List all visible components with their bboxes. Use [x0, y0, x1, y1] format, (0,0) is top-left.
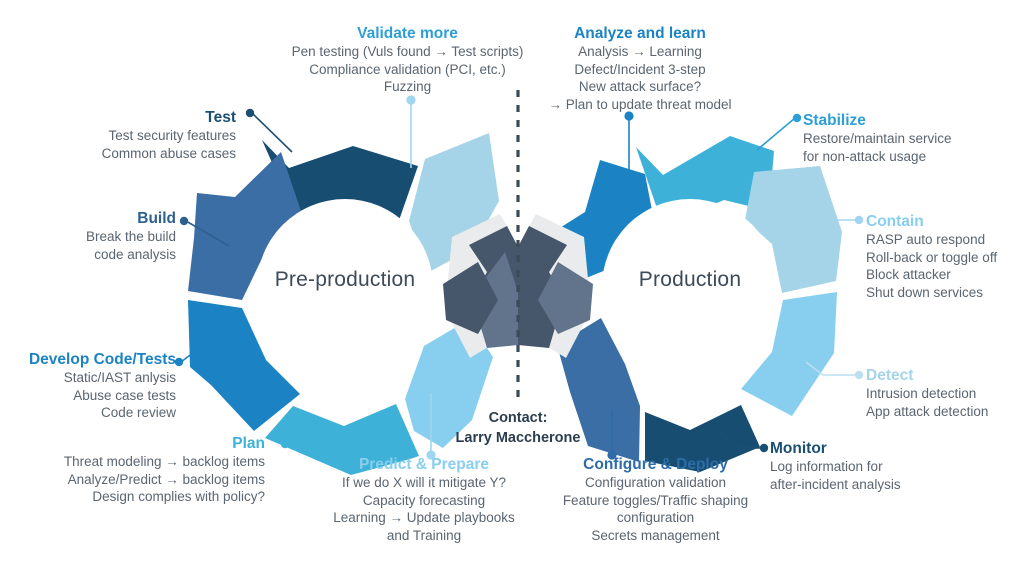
stage-detail-configure-deploy-2: configuration	[548, 509, 763, 527]
stage-detail-plan-1: Analyze/Predict → backlog items	[10, 471, 265, 489]
stage-title-contain: Contain	[866, 212, 1024, 231]
leader-dot-build	[180, 217, 188, 225]
leader-dot-contain	[855, 216, 863, 224]
stage-title-test: Test	[40, 108, 236, 127]
stage-detail-stabilize-1: for non-attack usage	[803, 148, 1003, 166]
stage-label-build[interactable]: BuildBreak the buildcode analysis	[40, 209, 176, 263]
stage-title-analyze-and-learn: Analyze and learn	[535, 24, 745, 43]
stage-detail-plan-0: Threat modeling → backlog items	[10, 453, 265, 471]
stage-detail-validate-more-2: Fuzzing	[285, 78, 530, 96]
stage-label-monitor[interactable]: MonitorLog information forafter-incident…	[770, 439, 960, 493]
stage-detail-analyze-and-learn-1: Defect/Incident 3-step	[535, 61, 745, 79]
stage-label-plan[interactable]: PlanThreat modeling → backlog itemsAnaly…	[10, 434, 265, 506]
stage-detail-contain-0: RASP auto respond	[866, 231, 1024, 249]
stage-detail-analyze-and-learn-2: New attack surface?	[535, 78, 745, 96]
leader-dot-plan	[281, 440, 289, 448]
contact-name: Larry Maccherone	[398, 428, 638, 448]
stage-detail-validate-more-0: Pen testing (Vuls found → Test scripts)	[285, 43, 530, 61]
stage-detail-build-0: Break the build	[40, 228, 176, 246]
stage-label-detect[interactable]: DetectIntrusion detectionApp attack dete…	[866, 366, 1024, 420]
stage-title-predict-prepare: Predict & Prepare	[311, 455, 537, 474]
stage-detail-predict-prepare-2: Learning → Update playbooks	[311, 509, 537, 527]
stage-detail-contain-3: Shut down services	[866, 284, 1024, 302]
stage-detail-test-0: Test security features	[40, 127, 236, 145]
stage-detail-detect-0: Intrusion detection	[866, 385, 1024, 403]
stage-label-contain[interactable]: ContainRASP auto respondRoll-back or tog…	[866, 212, 1024, 301]
stage-detail-analyze-and-learn-3: → Plan to update threat model	[535, 96, 745, 114]
stage-label-test[interactable]: TestTest security featuresCommon abuse c…	[40, 108, 236, 162]
ring-label-production: Production	[639, 268, 741, 292]
leader-dot-develop	[175, 358, 183, 366]
stage-detail-contain-1: Roll-back or toggle off	[866, 249, 1024, 267]
stage-title-configure-deploy: Configure & Deploy	[548, 455, 763, 474]
stage-label-stabilize[interactable]: StabilizeRestore/maintain servicefor non…	[803, 111, 1003, 165]
leader-dot-test	[246, 109, 254, 117]
ring-label-pre-production: Pre-production	[275, 268, 416, 292]
stage-detail-build-1: code analysis	[40, 246, 176, 264]
stage-detail-predict-prepare-0: If we do X will it mitigate Y?	[311, 474, 537, 492]
stage-title-plan: Plan	[10, 434, 265, 453]
stage-detail-detect-1: App attack detection	[866, 403, 1024, 421]
stage-title-build: Build	[40, 209, 176, 228]
stage-detail-configure-deploy-0: Configuration validation	[548, 474, 763, 492]
stage-title-monitor: Monitor	[770, 439, 960, 458]
leader-dot-detect	[855, 371, 863, 379]
stage-detail-predict-prepare-3: and Training	[311, 527, 537, 545]
stage-detail-configure-deploy-1: Feature toggles/Traffic shaping	[548, 492, 763, 510]
stage-detail-stabilize-0: Restore/maintain service	[803, 130, 1003, 148]
contact-block: Contact: Larry Maccherone	[398, 408, 638, 448]
stage-detail-contain-2: Block attacker	[866, 266, 1024, 284]
stage-label-analyze-and-learn[interactable]: Analyze and learnAnalysis → LearningDefe…	[535, 24, 745, 113]
stage-detail-monitor-1: after-incident analysis	[770, 476, 960, 494]
stage-label-configure-deploy[interactable]: Configure & DeployConfiguration validati…	[548, 455, 763, 544]
stage-title-detect: Detect	[866, 366, 1024, 385]
stage-title-validate-more: Validate more	[285, 24, 530, 43]
stage-detail-test-1: Common abuse cases	[40, 145, 236, 163]
contact-label: Contact:	[398, 408, 638, 428]
stage-detail-validate-more-1: Compliance validation (PCI, etc.)	[285, 61, 530, 79]
stage-detail-develop-code-tests-1: Abuse case tests	[10, 387, 176, 405]
leader-dot-stabilize	[793, 114, 801, 122]
leader-dot-validate	[406, 95, 415, 104]
stage-label-validate-more[interactable]: Validate morePen testing (Vuls found → T…	[285, 24, 530, 96]
leader-dot-monitor	[760, 444, 768, 452]
stage-detail-predict-prepare-1: Capacity forecasting	[311, 492, 537, 510]
stage-title-stabilize: Stabilize	[803, 111, 1003, 130]
stage-detail-develop-code-tests-2: Code review	[10, 404, 176, 422]
devsecops-infinity-diagram: Pre-production Production Contact: Larry…	[0, 0, 1024, 584]
stage-detail-analyze-and-learn-0: Analysis → Learning	[535, 43, 745, 61]
stage-detail-plan-2: Design complies with policy?	[10, 488, 265, 506]
stage-title-develop-code-tests: Develop Code/Tests	[10, 350, 176, 369]
stage-label-develop-code-tests[interactable]: Develop Code/TestsStatic/IAST anlysisAbu…	[10, 350, 176, 422]
stage-detail-configure-deploy-3: Secrets management	[548, 527, 763, 545]
stage-detail-monitor-0: Log information for	[770, 458, 960, 476]
stage-label-predict-prepare[interactable]: Predict & PrepareIf we do X will it miti…	[311, 455, 537, 544]
stage-detail-develop-code-tests-0: Static/IAST anlysis	[10, 369, 176, 387]
